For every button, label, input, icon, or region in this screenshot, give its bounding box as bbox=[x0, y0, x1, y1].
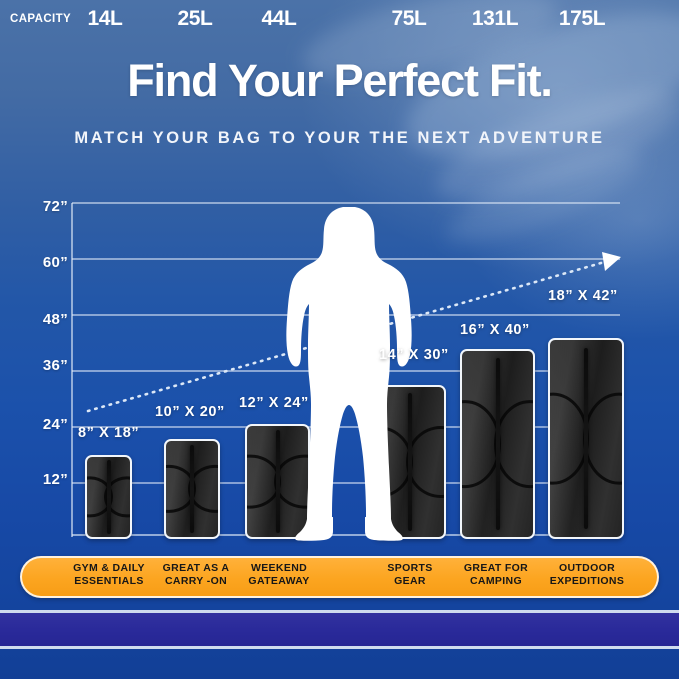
bag-2[interactable] bbox=[164, 439, 220, 539]
bag-size-label-4: 14” X 30” bbox=[379, 347, 449, 363]
y-tick-label: 12” bbox=[4, 471, 68, 488]
bag-size-label-5: 16” X 40” bbox=[460, 322, 530, 338]
capacity-value-4: 75L bbox=[366, 7, 452, 31]
capacity-value-5: 131L bbox=[452, 7, 538, 31]
bag-seam bbox=[276, 430, 280, 532]
bag-seam bbox=[107, 460, 111, 534]
capacity-value-3: 44L bbox=[236, 7, 322, 31]
capacity-value-1: 14L bbox=[62, 7, 148, 31]
gridline-72 bbox=[72, 202, 620, 204]
bag-6[interactable] bbox=[548, 338, 624, 539]
person-silhouette-icon bbox=[280, 205, 420, 541]
y-axis-line bbox=[71, 203, 73, 537]
y-tick-label: 48” bbox=[4, 311, 68, 328]
use-case-3[interactable]: WEEKEND GATEAWAY bbox=[222, 562, 336, 588]
y-tick-label: 60” bbox=[4, 254, 68, 271]
bag-size-label-2: 10” X 20” bbox=[155, 404, 225, 420]
capacity-value-6: 175L bbox=[539, 7, 625, 31]
bag-arc-right bbox=[494, 400, 535, 488]
bag-size-label-1: 8” X 18” bbox=[78, 425, 139, 441]
bag-seam bbox=[584, 348, 588, 529]
capacity-value-2: 25L bbox=[152, 7, 238, 31]
bag-arc-right bbox=[583, 392, 624, 485]
y-tick-label: 72” bbox=[4, 198, 68, 215]
y-tick-label: 36” bbox=[4, 357, 68, 374]
bag-size-label-6: 18” X 42” bbox=[548, 288, 618, 304]
bag-seam bbox=[190, 445, 194, 533]
use-case-6[interactable]: OUTDOOR EXPEDITIONS bbox=[524, 562, 650, 588]
capacity-band bbox=[0, 610, 679, 649]
y-tick-label: 24” bbox=[4, 416, 68, 433]
bag-seam bbox=[496, 358, 500, 529]
infographic-canvas: Find Your Perfect Fit. MATCH YOUR BAG TO… bbox=[0, 0, 679, 679]
bag-5[interactable] bbox=[460, 349, 535, 539]
bag-size-label-3: 12” X 24” bbox=[239, 395, 309, 411]
bag-1[interactable] bbox=[85, 455, 132, 539]
